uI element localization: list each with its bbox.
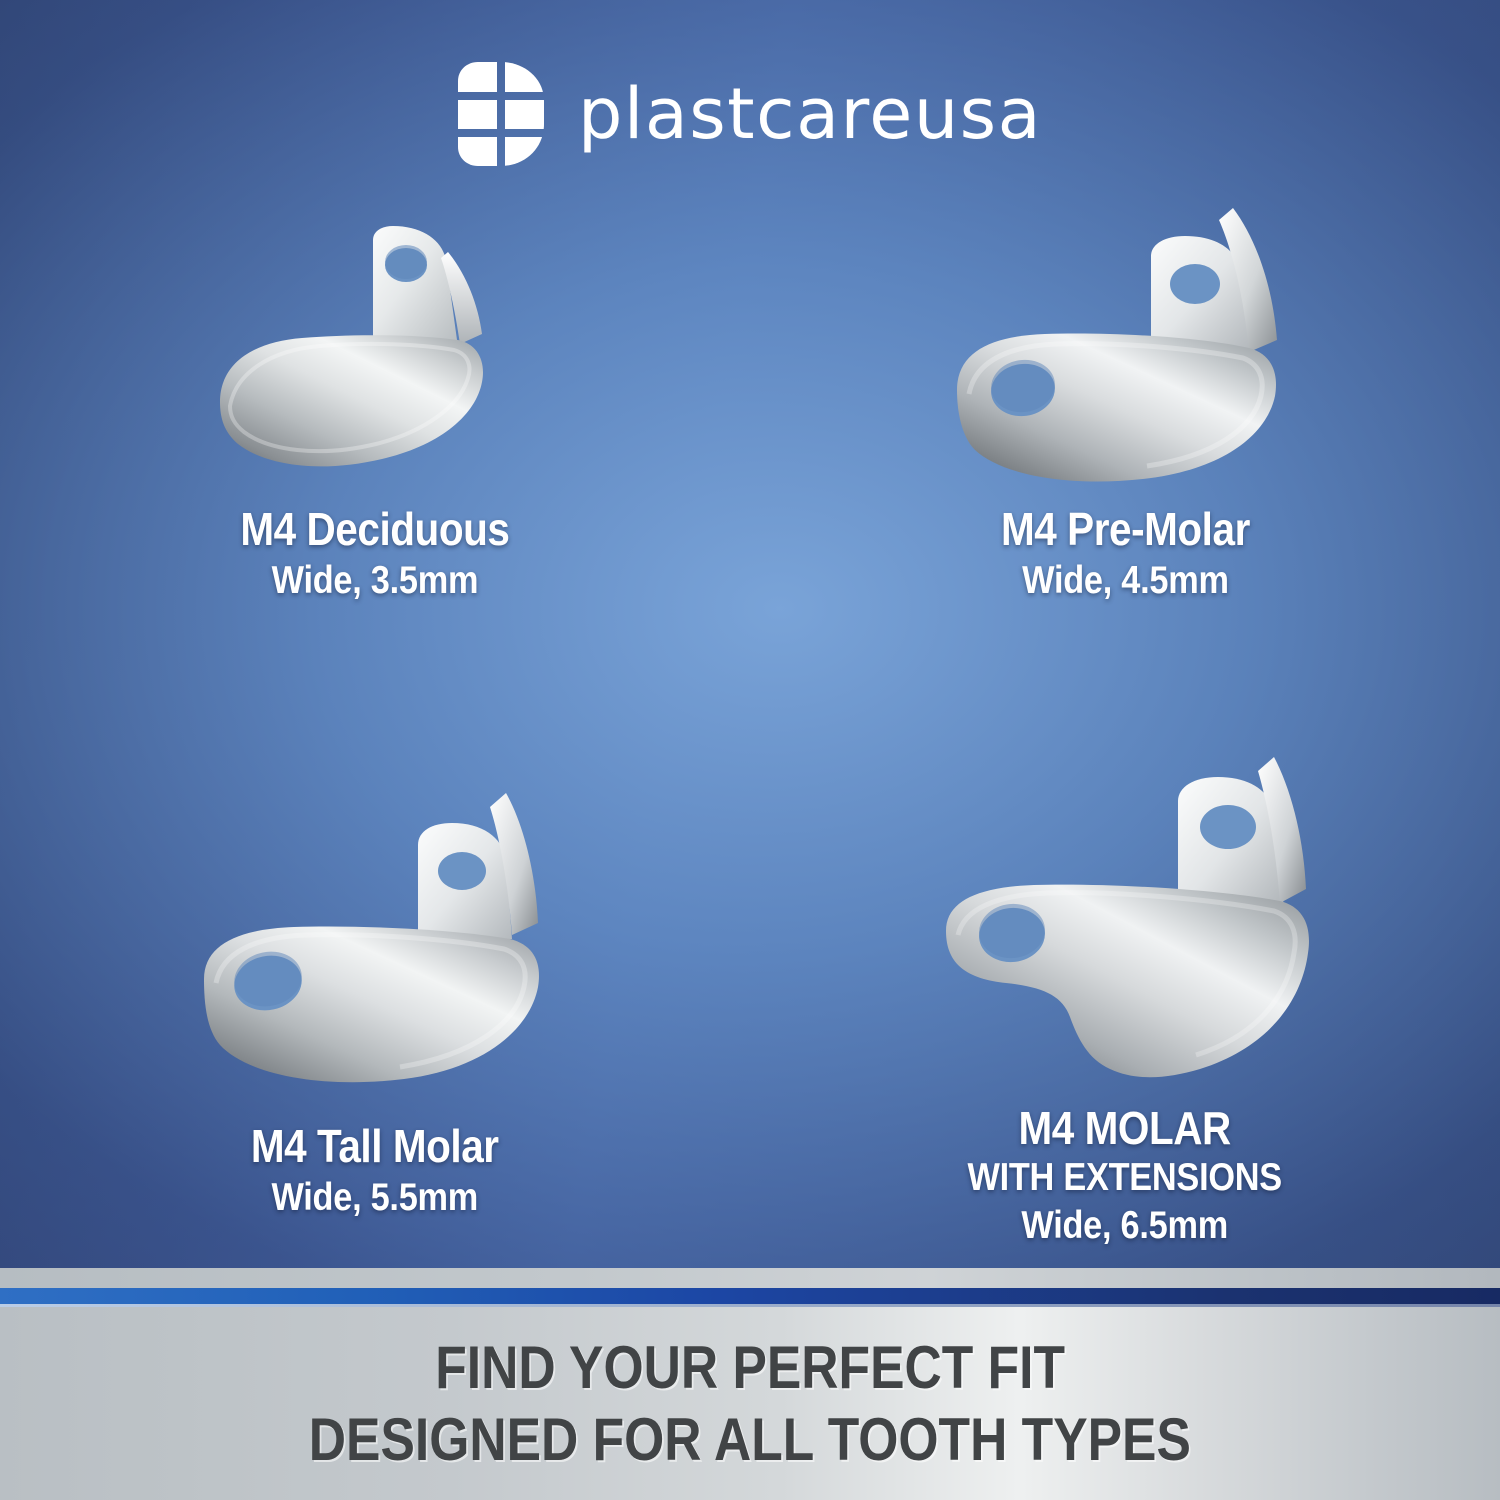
product-title: M4 Deciduous bbox=[240, 506, 509, 552]
brand-lockup: plastcareusa bbox=[0, 62, 1500, 166]
product-size: Wide, 5.5mm bbox=[251, 1178, 499, 1217]
product-size: Wide, 4.5mm bbox=[1001, 561, 1250, 600]
product-card-m4-deciduous[interactable]: M4 Deciduous Wide, 3.5mm bbox=[0, 186, 750, 731]
product-caption: M4 Tall Molar Wide, 5.5mm bbox=[234, 1123, 515, 1217]
tooth-grid-icon bbox=[458, 62, 544, 166]
product-card-m4-tall-molar[interactable]: M4 Tall Molar Wide, 5.5mm bbox=[0, 731, 750, 1246]
matrix-band-premolar-icon bbox=[945, 200, 1305, 490]
matrix-band-molar-extensions-icon bbox=[930, 751, 1320, 1091]
product-grid: M4 Deciduous Wide, 3.5mm bbox=[0, 186, 1500, 1246]
footer-banner: FIND YOUR PERFECT FIT DESIGNED FOR ALL T… bbox=[0, 1307, 1500, 1500]
product-size: Wide, 3.5mm bbox=[240, 561, 509, 600]
product-infographic: plastcareusa bbox=[0, 0, 1500, 1500]
footer-headline-1: FIND YOUR PERFECT FIT bbox=[435, 1337, 1065, 1398]
product-caption: M4 MOLAR WITH EXTENSIONS Wide, 6.5mm bbox=[946, 1105, 1303, 1245]
product-title: M4 Pre-Molar bbox=[1001, 506, 1250, 552]
product-subtitle: WITH EXTENSIONS bbox=[968, 1158, 1282, 1197]
product-caption: M4 Pre-Molar Wide, 4.5mm bbox=[984, 506, 1267, 600]
product-caption: M4 Deciduous Wide, 3.5mm bbox=[222, 506, 528, 600]
product-title: M4 MOLAR bbox=[968, 1105, 1282, 1151]
matrix-band-tall-molar-icon bbox=[190, 779, 560, 1099]
product-card-m4-pre-molar[interactable]: M4 Pre-Molar Wide, 4.5mm bbox=[750, 186, 1500, 731]
brand-name: plastcareusa bbox=[578, 79, 1042, 149]
divider-gray-band bbox=[0, 1268, 1500, 1288]
product-card-m4-molar-with-extensions[interactable]: M4 MOLAR WITH EXTENSIONS Wide, 6.5mm bbox=[750, 731, 1500, 1246]
matrix-band-deciduous-icon bbox=[210, 222, 540, 482]
product-size: Wide, 6.5mm bbox=[968, 1206, 1282, 1245]
product-title: M4 Tall Molar bbox=[251, 1123, 499, 1169]
divider-blue-stripe bbox=[0, 1288, 1500, 1304]
hero-panel: plastcareusa bbox=[0, 0, 1500, 1268]
footer-headline-2: DESIGNED FOR ALL TOOTH TYPES bbox=[309, 1409, 1191, 1470]
